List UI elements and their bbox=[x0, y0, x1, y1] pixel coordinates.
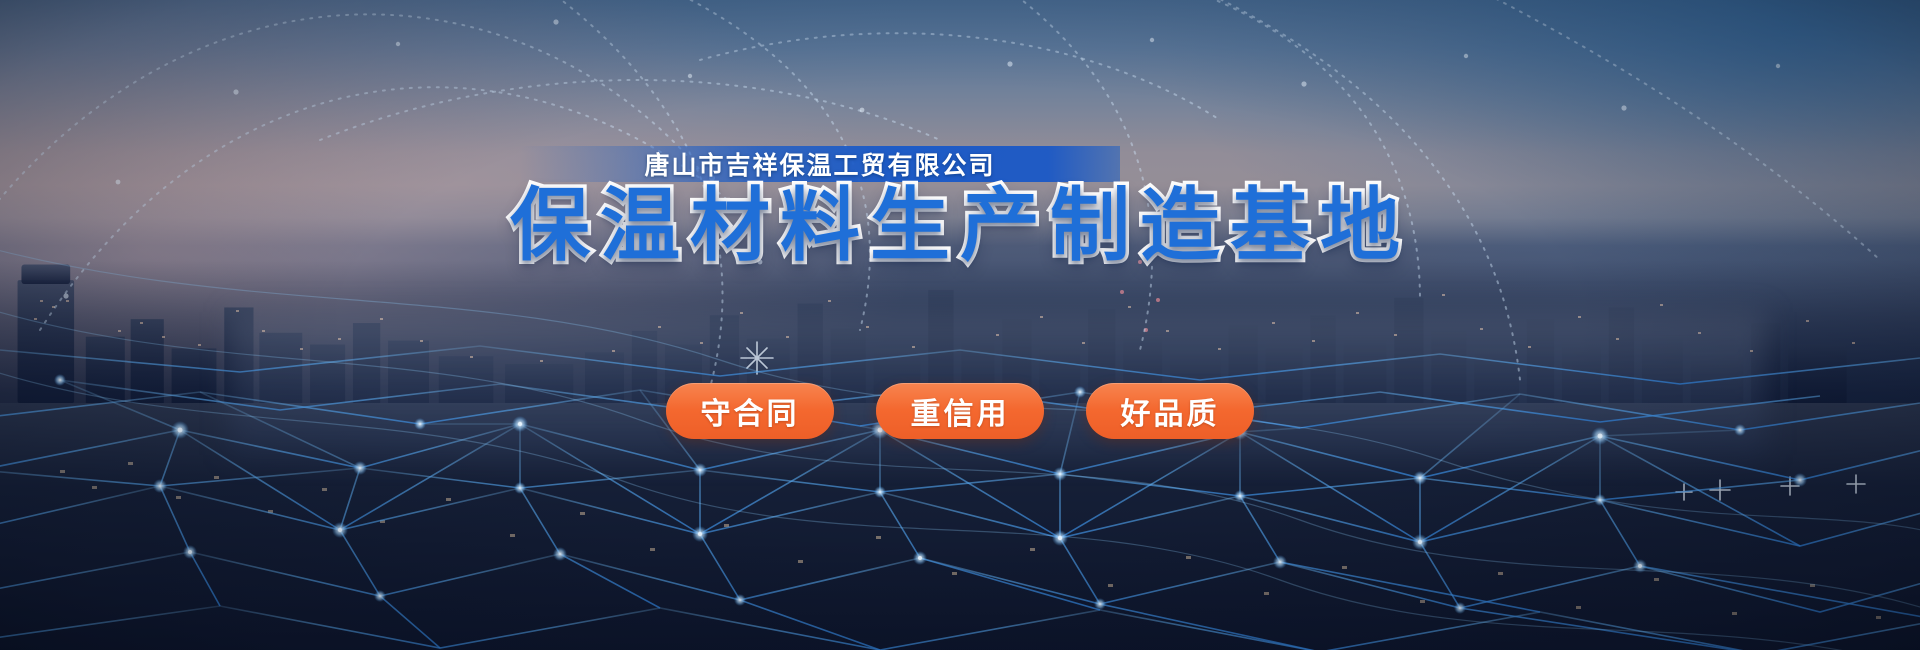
headline-text: 保温材料生产制造基地 bbox=[510, 186, 1410, 266]
badge-contract-label: 守合同 bbox=[701, 389, 800, 433]
headline-block: 保温材料生产制造基地 bbox=[0, 186, 1920, 266]
company-name-text: 唐山市吉祥保温工贸有限公司 bbox=[644, 146, 995, 182]
badge-credit[interactable]: 重信用 bbox=[876, 383, 1044, 439]
badge-contract[interactable]: 守合同 bbox=[666, 383, 834, 439]
badge-credit-label: 重信用 bbox=[911, 389, 1010, 433]
banner-content: 唐山市吉祥保温工贸有限公司 保温材料生产制造基地 守合同 重信用 好品质 bbox=[0, 0, 1920, 650]
feature-badges: 守合同 重信用 好品质 bbox=[0, 383, 1920, 439]
badge-quality-label: 好品质 bbox=[1121, 389, 1220, 433]
badge-quality[interactable]: 好品质 bbox=[1086, 383, 1254, 439]
company-name-ribbon: 唐山市吉祥保温工贸有限公司 bbox=[520, 146, 1120, 182]
hero-banner: 唐山市吉祥保温工贸有限公司 保温材料生产制造基地 守合同 重信用 好品质 bbox=[0, 0, 1920, 650]
